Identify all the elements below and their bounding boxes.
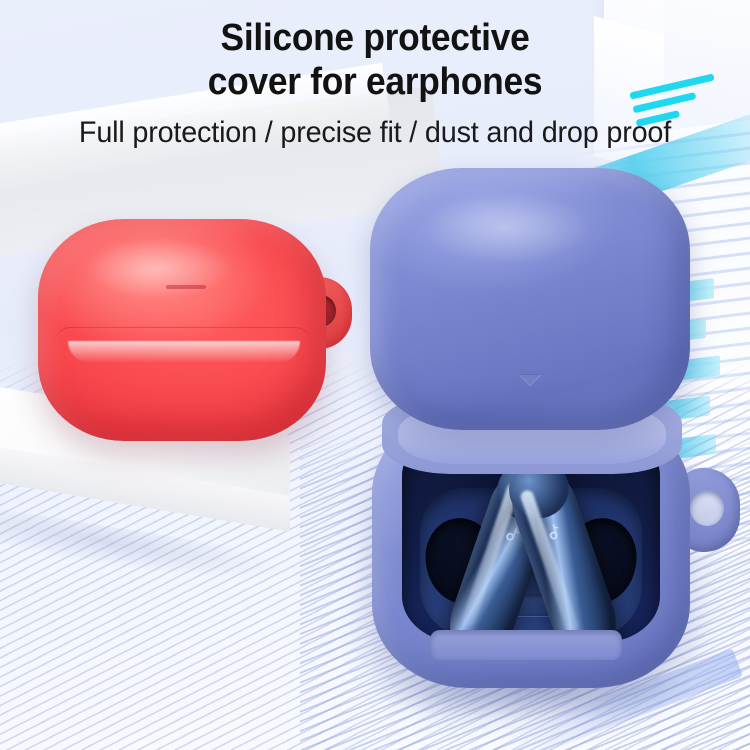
blue-case-lid — [370, 168, 690, 430]
triangle-marker-icon — [519, 374, 541, 385]
product-banner: Silicone protective cover for earphones … — [0, 0, 750, 750]
blue-earphone-case — [358, 168, 718, 688]
headline-block: Silicone protective cover for earphones … — [0, 16, 750, 150]
headline-line-2: cover for earphones — [26, 60, 724, 104]
red-case-highlight — [84, 237, 234, 299]
red-case-seam-highlight — [68, 341, 300, 363]
subheadline: Full protection / precise fit / dust and… — [15, 116, 735, 150]
blue-case-lid-highlight — [422, 192, 592, 264]
red-case-indicator-mark — [166, 285, 206, 289]
charging-port-notch — [430, 630, 622, 660]
red-earphone-case — [30, 215, 350, 450]
red-case-body — [38, 219, 326, 441]
headline-line-1: Silicone protective — [26, 16, 724, 60]
